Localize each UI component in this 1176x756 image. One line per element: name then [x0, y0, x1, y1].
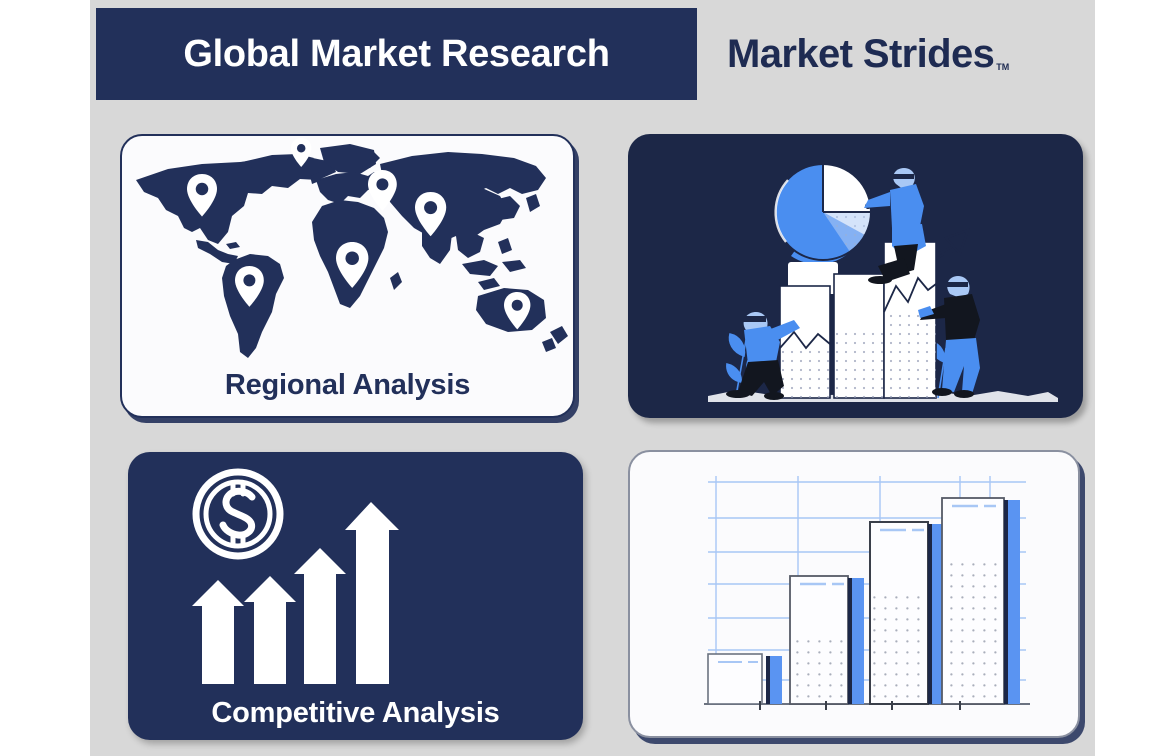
card-competitive-analysis[interactable]: Competitive Analysis: [128, 452, 583, 740]
brand-name: Market Strides: [727, 32, 994, 77]
card-growth-chart[interactable]: [628, 450, 1080, 738]
arrow-1: [192, 580, 244, 684]
chart-bar-4: [942, 498, 1020, 704]
arrow-4: [345, 502, 399, 684]
market-analytics-illustration: [628, 134, 1083, 418]
map-pin-south-america: [235, 266, 264, 307]
competitive-arrows-group: [128, 452, 583, 702]
trademark-mark: TM: [996, 62, 1009, 72]
chart-bar-2: [790, 576, 864, 704]
header-banner: Global Market Research: [96, 8, 697, 100]
regional-analysis-label: Regional Analysis: [122, 369, 573, 402]
map-pin-australia: [504, 292, 530, 329]
arrow-2: [244, 576, 296, 684]
map-pin-africa: [336, 242, 368, 288]
competitive-analysis-label: Competitive Analysis: [128, 697, 583, 730]
map-pin-europe: [368, 170, 397, 211]
chart-bar-1: [708, 654, 782, 704]
infographic-root: Global Market Research Market Strides TM: [0, 0, 1176, 756]
brand-logo: Market Strides TM: [727, 32, 1009, 77]
bar-1: [780, 286, 830, 398]
arrow-3: [294, 548, 346, 684]
page-title: Global Market Research: [183, 33, 609, 76]
map-pin-north-pole: [291, 138, 311, 167]
map-pin-asia: [415, 192, 446, 236]
card-regional-analysis[interactable]: Regional Analysis: [120, 134, 575, 418]
pie-chart: [775, 164, 896, 264]
growth-bar-chart-icon: [630, 452, 1078, 736]
card-market-illustration[interactable]: [628, 134, 1083, 418]
bar-2: [834, 274, 884, 398]
dollar-coin-icon: [196, 472, 280, 556]
chart-bar-3: [870, 522, 944, 704]
map-pin-north-america: [187, 174, 217, 217]
